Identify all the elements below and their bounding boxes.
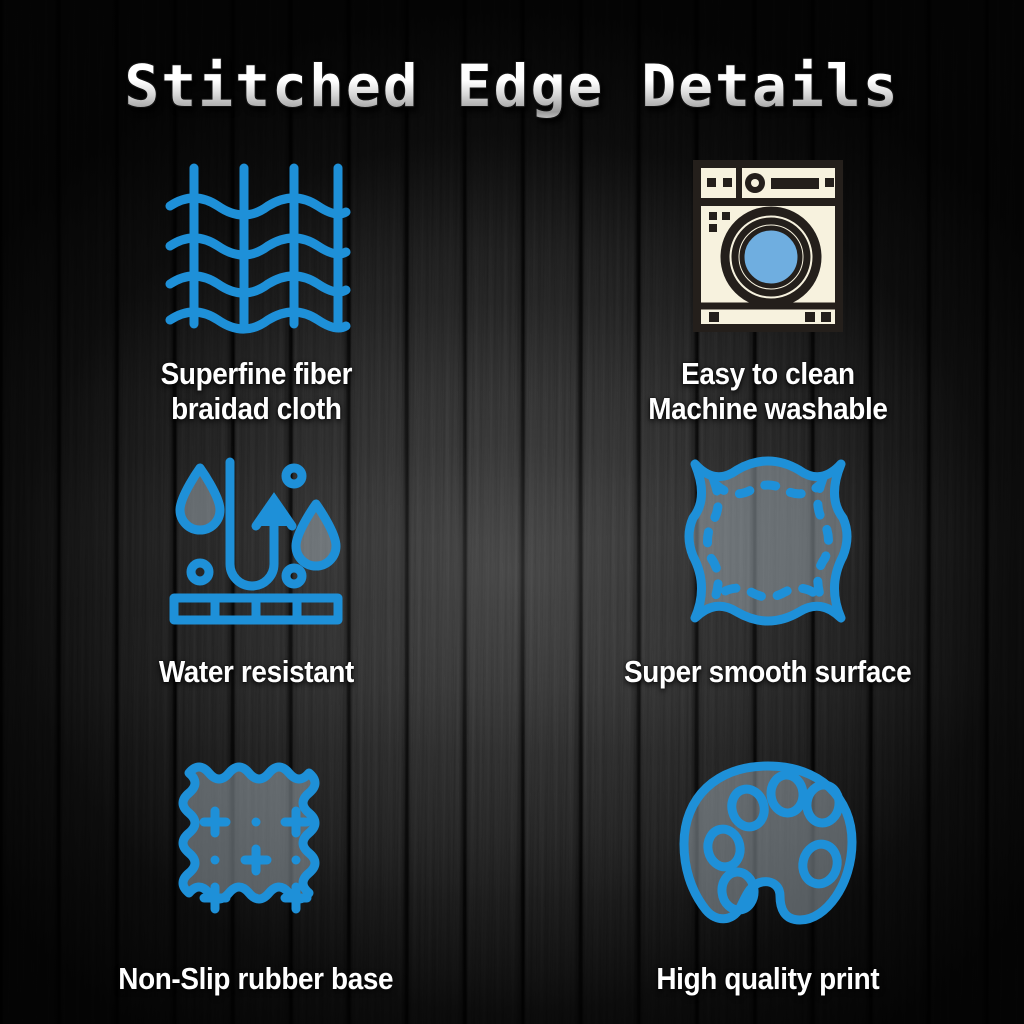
infographic-canvas: Stitched Edge Details <box>0 0 1024 1024</box>
page-title-container: Stitched Edge Details <box>0 52 1024 120</box>
feature-item-smooth-surface: Super smooth surface <box>512 448 1024 748</box>
feature-label: Superfine fiber braidad cloth <box>160 357 351 426</box>
washing-machine-icon <box>693 148 843 343</box>
feature-item-water-resistant: Water resistant <box>0 448 512 748</box>
feature-label: Easy to clean Machine washable <box>648 357 887 426</box>
feature-item-machine-washable: Easy to clean Machine washable <box>512 148 1024 448</box>
feature-label: Super smooth surface <box>624 655 911 690</box>
woven-fabric-icon <box>166 148 346 343</box>
page-title: Stitched Edge Details <box>124 52 899 120</box>
non-slip-mat-icon <box>175 748 337 938</box>
feature-item-non-slip-base: Non-Slip rubber base <box>0 748 512 1024</box>
feature-grid: Superfine fiber braidad cloth <box>0 0 1024 1024</box>
paint-palette-icon <box>680 748 856 938</box>
leather-hide-icon <box>685 448 851 633</box>
water-resistant-icon <box>170 448 342 633</box>
feature-label: Non-Slip rubber base <box>119 962 394 997</box>
feature-label: High quality print <box>657 962 880 997</box>
feature-label: Water resistant <box>158 655 353 690</box>
feature-item-superfine-fiber: Superfine fiber braidad cloth <box>0 148 512 448</box>
feature-item-high-quality-print: High quality print <box>512 748 1024 1024</box>
